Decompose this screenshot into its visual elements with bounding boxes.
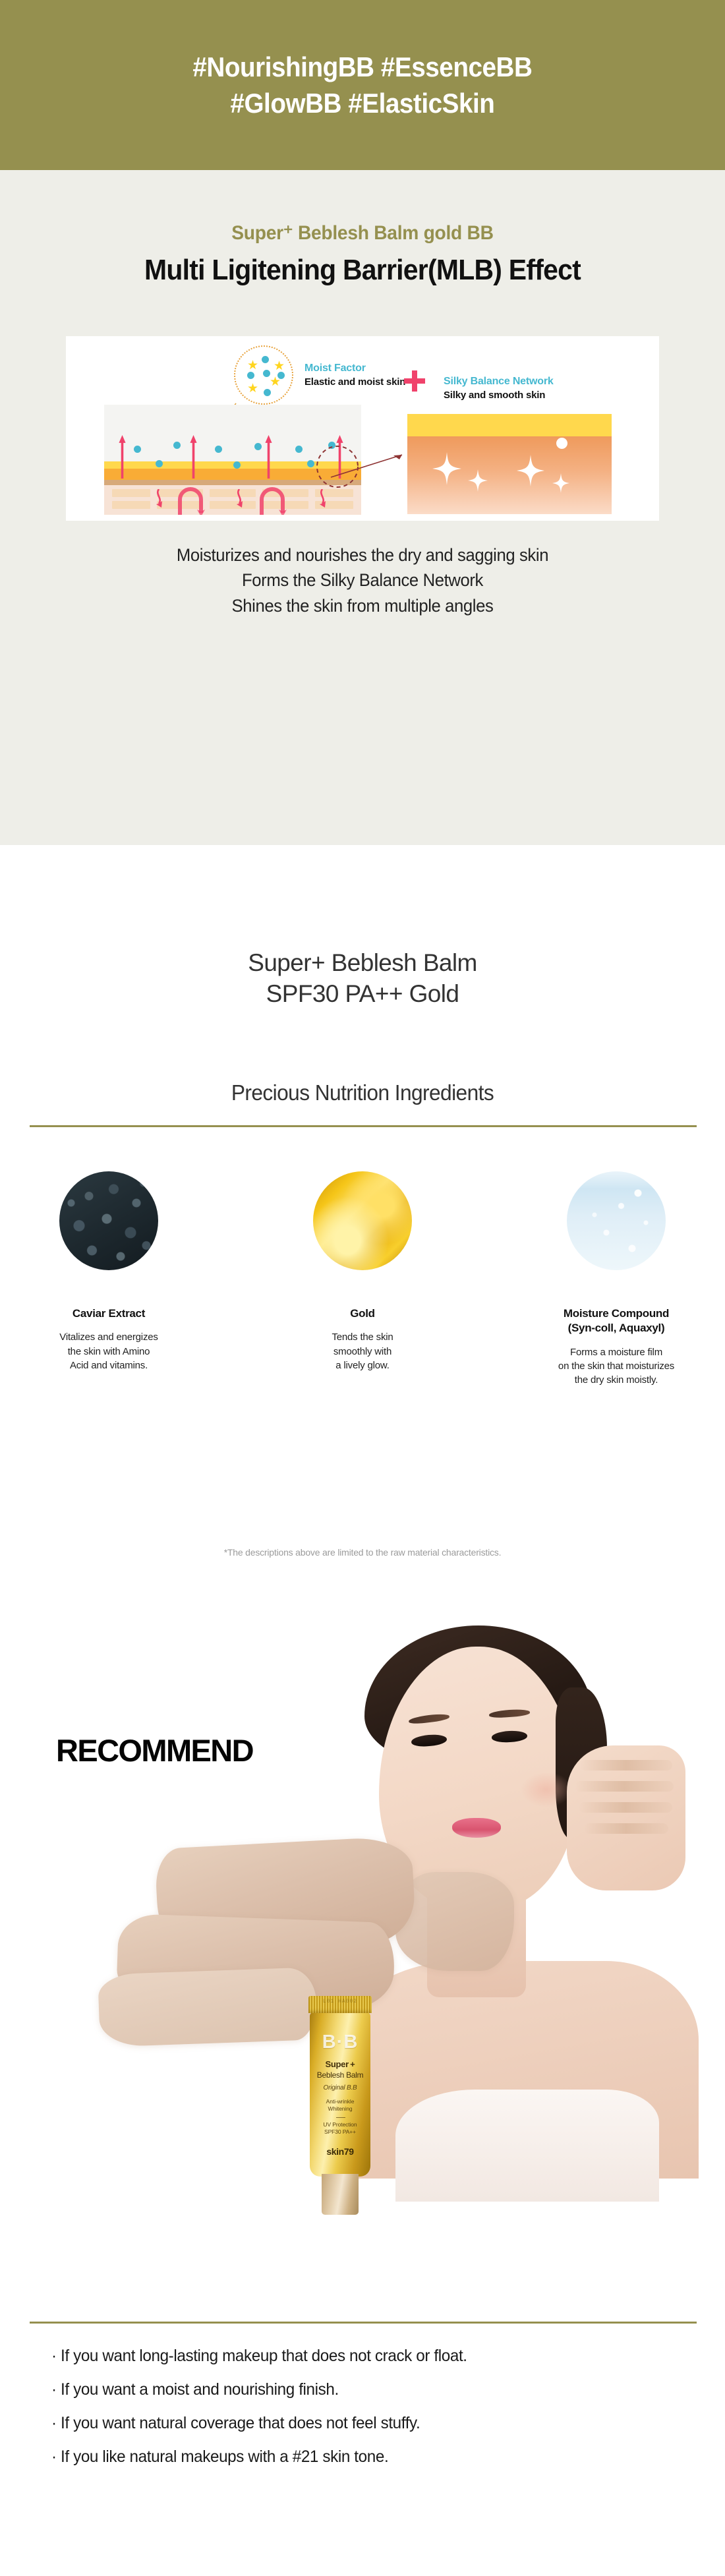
ingredient-caption-moisture: Moisture Compound (Syn-coll, Aquaxyl) Fo… bbox=[517, 1306, 715, 1388]
divider-rule-bottom bbox=[30, 2322, 697, 2324]
ingredient-description: Vitalizes and energizes the skin with Am… bbox=[10, 1330, 208, 1372]
plus-icon bbox=[404, 370, 425, 392]
zoom-connector-arrow bbox=[330, 450, 409, 480]
ingredients-section: Super+ Beblesh Balm SPF30 PA++ Gold Prec… bbox=[0, 845, 725, 1662]
bullet-item: · If you like natural makeups with a #21… bbox=[51, 2449, 665, 2465]
loop-arch-arrow bbox=[257, 486, 287, 515]
product-detail-page: #NourishingBB #EssenceBB #GlowBB #Elasti… bbox=[0, 0, 725, 2576]
silky-balance-network-illustration bbox=[407, 414, 612, 514]
product-title-line-2: SPF30 PA++ Gold bbox=[0, 978, 725, 1009]
mlb-benefit-line: Forms the Silky Balance Network bbox=[18, 568, 707, 593]
tube-product-name-line1: Super + bbox=[310, 2059, 370, 2069]
skin-cross-section-diagram bbox=[104, 405, 361, 515]
bullet-item: · If you want a moist and nourishing fin… bbox=[51, 2382, 665, 2398]
moisture-up-arrow bbox=[190, 431, 197, 483]
sparkle-icon bbox=[552, 473, 569, 493]
penetration-wave-arrow bbox=[153, 489, 165, 514]
mlb-benefit-line: Shines the skin from multiple angles bbox=[18, 593, 707, 618]
ingredient-images-row bbox=[0, 1171, 725, 1297]
tube-claims: Anti-wrinkle Whitening bbox=[310, 2098, 370, 2113]
moisture-up-arrow bbox=[265, 431, 272, 483]
recommend-section: RECOMMEND L01 HA002 B·B Super + Beblesh … bbox=[0, 1562, 725, 2340]
bullet-list: · If you want long-lasting makeup that d… bbox=[51, 2348, 684, 2482]
bullet-item: · If you want long-lasting makeup that d… bbox=[51, 2348, 665, 2364]
mlb-diagram-card: ★ ★ ★ ★ Moist Factor Elastic and moist s… bbox=[66, 336, 659, 521]
tube-product-name-line2: Beblesh Balm bbox=[310, 2070, 370, 2080]
ingredients-disclaimer: *The descriptions above are limited to t… bbox=[0, 1547, 725, 1558]
ingredient-name: Moisture Compound bbox=[517, 1306, 715, 1321]
sparkle-icon bbox=[468, 469, 488, 492]
silky-network-title: Silky Balance Network bbox=[444, 376, 554, 388]
tube-brand-logo: skin79 bbox=[310, 2146, 370, 2157]
mlb-eyebrow: Super⁺ Beblesh Balm gold BB bbox=[22, 221, 703, 245]
sparkle-icon bbox=[517, 455, 544, 486]
hashtag-line-1: #NourishingBB #EssenceBB bbox=[192, 49, 532, 85]
mlb-benefit-lines: Moisturizes and nourishes the dry and sa… bbox=[0, 542, 725, 618]
tube-variant: Original B.B bbox=[310, 2084, 370, 2092]
ingredient-name: Gold bbox=[264, 1306, 461, 1321]
tube-bb-mark: B·B bbox=[310, 2033, 370, 2052]
tube-uv-protection: UV Protection SPF30 PA++ bbox=[310, 2121, 370, 2136]
gold-image bbox=[313, 1171, 412, 1270]
mlb-effect-section: Super⁺ Beblesh Balm gold BB Multi Ligite… bbox=[0, 170, 725, 845]
ingredient-name: Caviar Extract bbox=[10, 1306, 208, 1321]
ingredients-subtitle: Precious Nutrition Ingredients bbox=[14, 1080, 710, 1105]
ingredient-description: Forms a moisture film on the skin that m… bbox=[517, 1345, 715, 1388]
divider-rule-top bbox=[30, 1125, 697, 1127]
product-title: Super+ Beblesh Balm SPF30 PA++ Gold bbox=[0, 947, 725, 1010]
tube-cap bbox=[322, 2174, 359, 2215]
moisture-up-arrow bbox=[119, 431, 126, 483]
ingredient-description: Tends the skin smoothly with a lively gl… bbox=[264, 1330, 461, 1372]
tube-lot-code: L01 HA002 bbox=[310, 1999, 370, 2005]
moist-factor-bubble: ★ ★ ★ ★ bbox=[234, 345, 293, 405]
sparkle-icon bbox=[432, 452, 461, 485]
product-tube: L01 HA002 B·B Super + Beblesh Balm Origi… bbox=[304, 1996, 376, 2213]
moist-factor-subtitle: Elastic and moist skin bbox=[304, 376, 405, 388]
mlb-benefit-line: Moisturizes and nourishes the dry and sa… bbox=[18, 542, 707, 568]
moisture-compound-image bbox=[567, 1171, 666, 1270]
bullet-item: · If you want natural coverage that does… bbox=[51, 2415, 665, 2432]
penetration-wave-arrow bbox=[316, 489, 328, 514]
recommendation-bullets-section: · If you want long-lasting makeup that d… bbox=[0, 2261, 725, 2576]
hashtag-banner: #NourishingBB #EssenceBB #GlowBB #Elasti… bbox=[0, 0, 725, 170]
product-title-line-1: Super+ Beblesh Balm bbox=[0, 947, 725, 978]
ingredient-name-secondary: (Syn-coll, Aquaxyl) bbox=[517, 1321, 715, 1335]
hashtag-line-2: #GlowBB #ElasticSkin bbox=[231, 85, 495, 121]
silky-network-subtitle: Silky and smooth skin bbox=[444, 390, 545, 401]
loop-arch-arrow bbox=[175, 486, 206, 515]
moist-factor-title: Moist Factor bbox=[304, 363, 366, 374]
ingredient-caption-caviar: Caviar Extract Vitalizes and energizes t… bbox=[10, 1306, 208, 1372]
penetration-wave-arrow bbox=[233, 489, 245, 514]
mlb-title: Multi Ligitening Barrier(MLB) Effect bbox=[26, 254, 700, 287]
bb-cream-swatch bbox=[98, 1967, 318, 2047]
ingredient-caption-gold: Gold Tends the skin smoothly with a live… bbox=[264, 1306, 461, 1372]
caviar-extract-image bbox=[59, 1171, 158, 1270]
recommend-heading: RECOMMEND bbox=[56, 1732, 253, 1769]
